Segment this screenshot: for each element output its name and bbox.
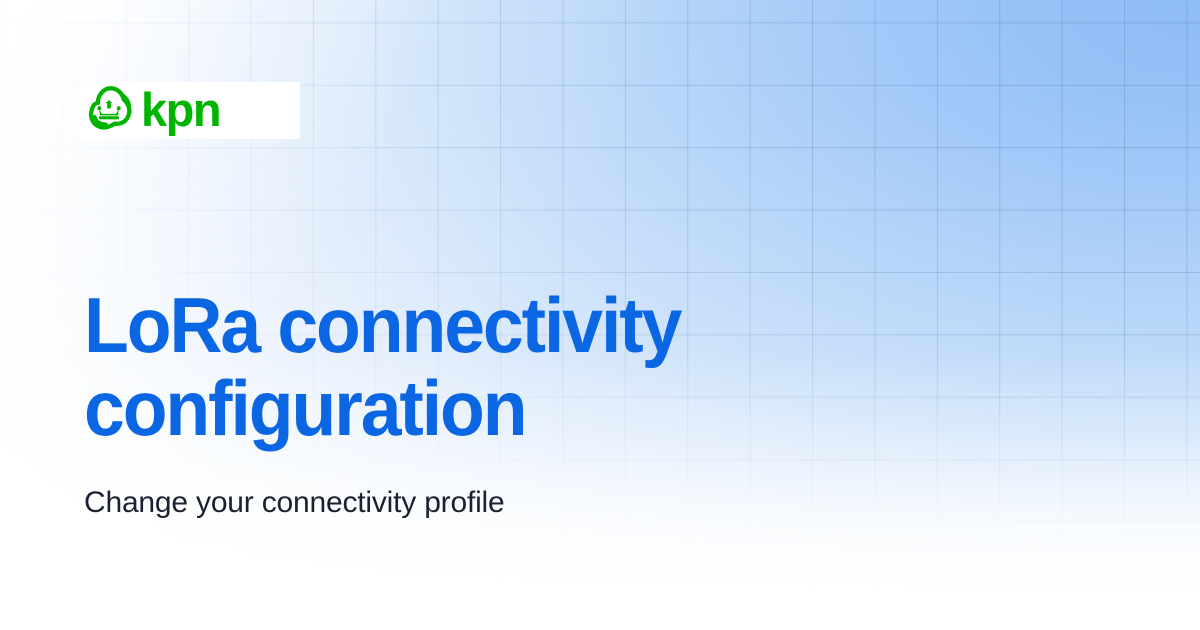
kpn-logo[interactable]: kpn bbox=[80, 82, 300, 139]
kpn-crown-ribbon-logo-icon bbox=[80, 82, 138, 139]
page-subtitle: Change your connectivity profile bbox=[84, 449, 904, 521]
page-title: LoRa connectivity configuration bbox=[84, 284, 855, 449]
kpn-wordmark: kpn bbox=[141, 86, 220, 133]
hero-banner: kpn LoRa connectivity configuration Chan… bbox=[0, 0, 1200, 630]
hero-content: LoRa connectivity configuration Change y… bbox=[84, 284, 904, 521]
